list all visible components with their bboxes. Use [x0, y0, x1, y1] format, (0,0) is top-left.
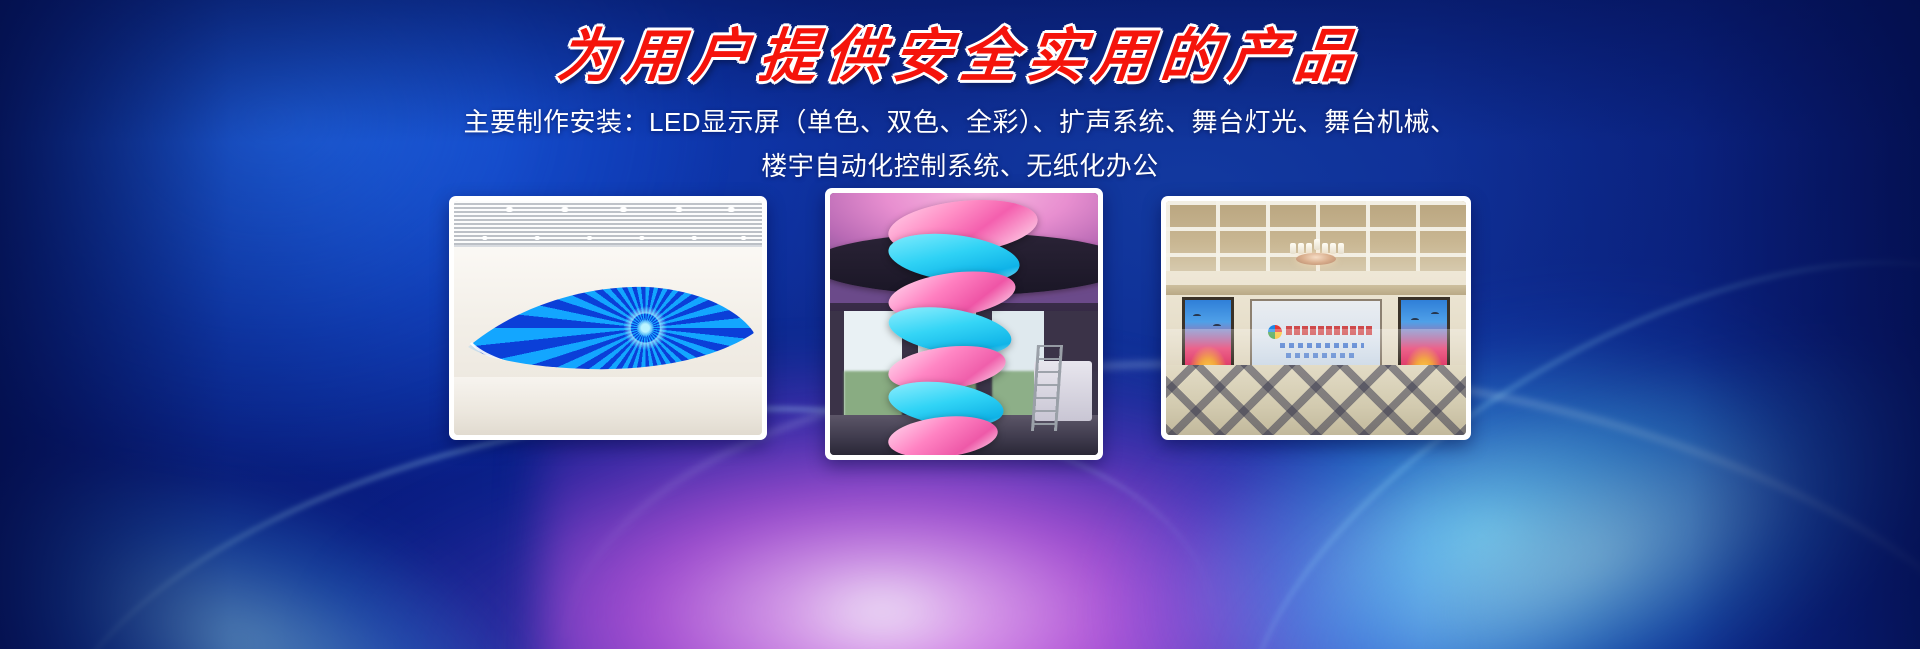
banner-headline: 为用户提供安全实用的产品 — [555, 27, 1365, 88]
photo3-screen-subtitle-text — [1286, 353, 1358, 358]
subtitle-container: 主要制作安装：LED显示屏（单色、双色、全彩）、扩声系统、舞台灯光、舞台机械、 … — [0, 100, 1920, 188]
gallery-item-eye-led-display[interactable] — [449, 196, 767, 440]
chandelier-lamp — [1290, 243, 1296, 254]
photo3-wall-trim — [1166, 285, 1466, 295]
subtitle-line-1: 主要制作安装：LED显示屏（单色、双色、全彩）、扩声系统、舞台灯光、舞台机械、 — [0, 100, 1920, 144]
photo3-chandelier — [1288, 239, 1344, 265]
chandelier-lamp — [1322, 243, 1328, 254]
chandelier-base — [1296, 253, 1336, 265]
chandelier-lamp — [1338, 243, 1344, 254]
photo-spiral-led-display — [830, 193, 1098, 455]
gallery-item-spiral-led-display[interactable] — [825, 188, 1103, 460]
photo3-main-led-screen — [1250, 299, 1382, 373]
photo3-bird-graphic — [1193, 314, 1201, 318]
photo3-screen-subtitle-text — [1280, 343, 1364, 348]
photo3-bird-graphic — [1213, 324, 1221, 328]
photo-eye-led-display — [454, 201, 762, 435]
photo1-ceiling-slats — [454, 201, 762, 247]
company-logo-icon — [1268, 325, 1282, 339]
photo1-floor — [454, 377, 762, 435]
subtitle-line-2: 楼宇自动化控制系统、无纸化办公 — [0, 144, 1920, 188]
photo-conference-hall-led — [1166, 201, 1466, 435]
chandelier-lamp — [1298, 243, 1304, 254]
photo3-screen-title-text — [1286, 326, 1374, 335]
chandelier-lamp — [1314, 239, 1320, 250]
photo3-patterned-floor — [1166, 365, 1466, 435]
promo-banner: 为用户提供安全实用的产品 主要制作安装：LED显示屏（单色、双色、全彩）、扩声系… — [0, 0, 1920, 649]
photo3-bird-graphic — [1431, 312, 1439, 316]
chandelier-lamp — [1330, 243, 1336, 254]
headline-container: 为用户提供安全实用的产品 — [0, 27, 1920, 88]
photo-gallery — [0, 196, 1920, 460]
gallery-item-conference-hall-led[interactable] — [1161, 196, 1471, 440]
photo3-bird-graphic — [1411, 318, 1419, 322]
photo2-spiral-led-column — [888, 199, 1038, 449]
